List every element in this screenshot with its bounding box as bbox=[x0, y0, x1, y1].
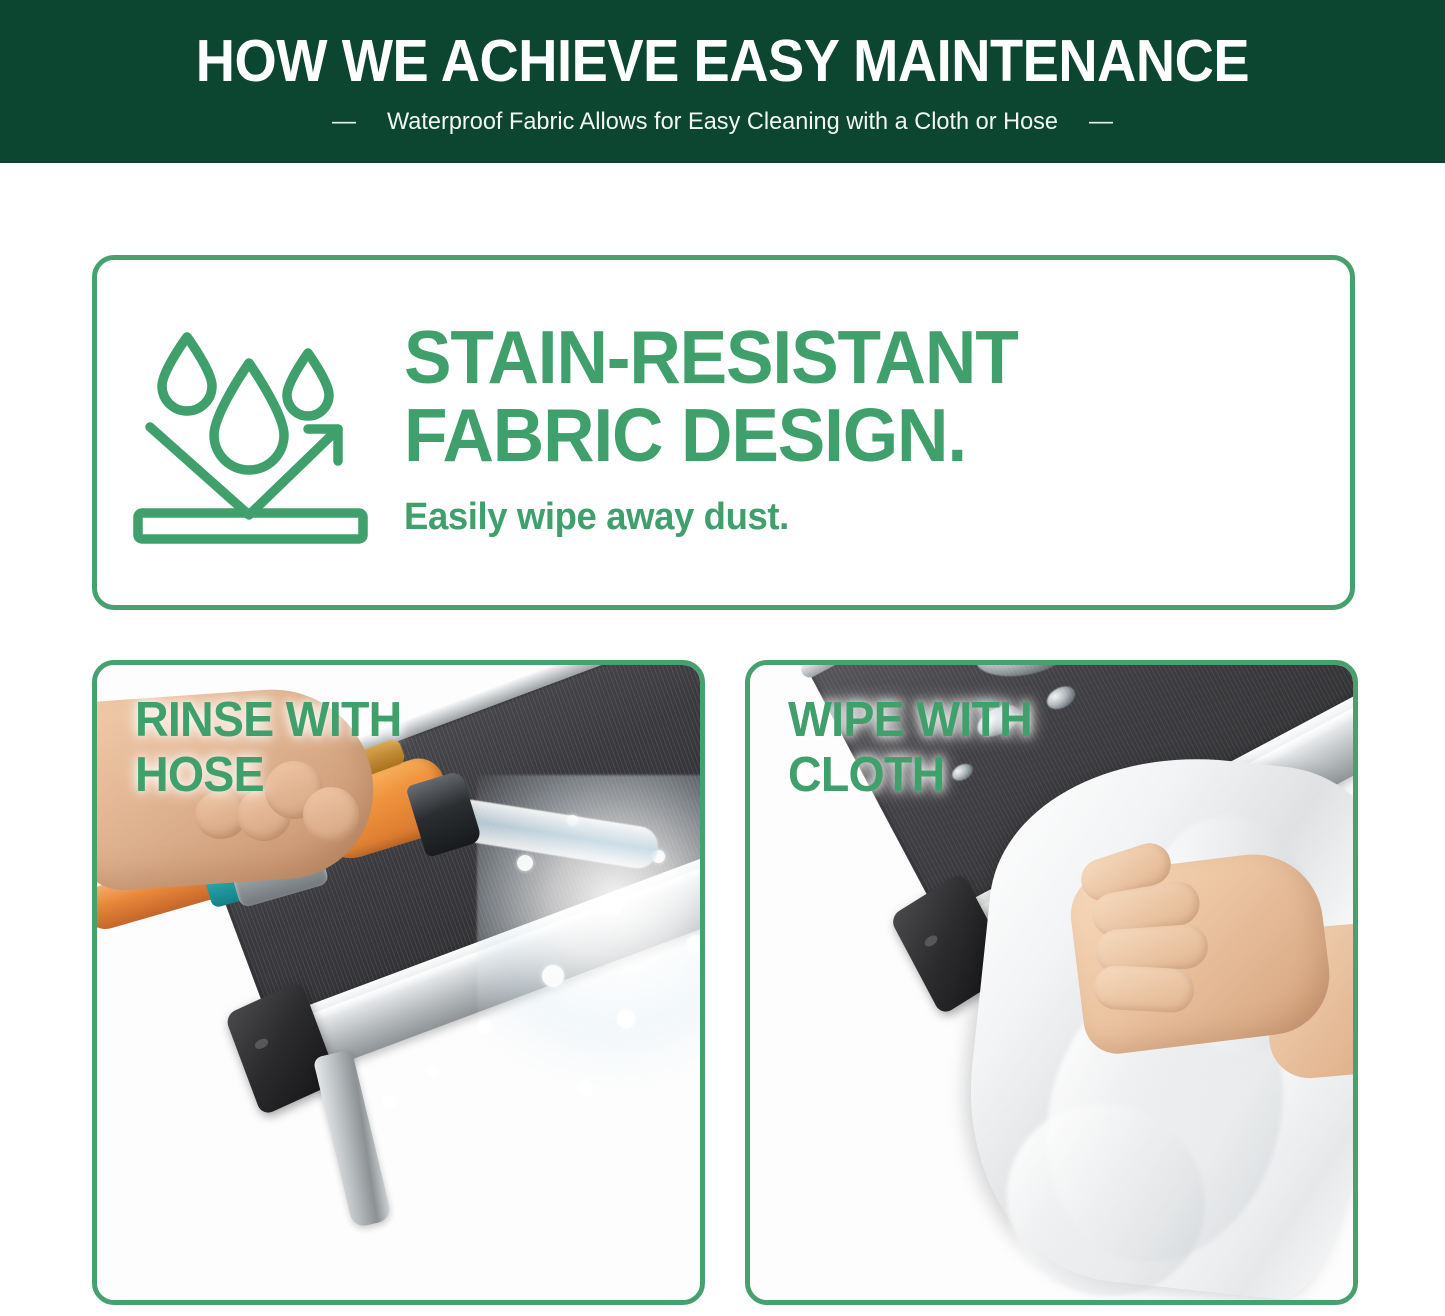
feature-heading-line-2: FABRIC DESIGN. bbox=[404, 396, 1303, 474]
water-droplet bbox=[602, 895, 622, 915]
photo-card-rinse-with-hose: RINSE WITH HOSE bbox=[92, 660, 705, 1305]
droplet-icon bbox=[162, 337, 212, 411]
page-subtitle: Waterproof Fabric Allows for Easy Cleani… bbox=[387, 108, 1058, 136]
content-stage: STAIN-RESISTANT FABRIC DESIGN. Easily wi… bbox=[0, 163, 1445, 1316]
water-droplet bbox=[577, 1080, 593, 1096]
water-repellent-fabric-icon bbox=[132, 323, 382, 551]
feature-text-block: STAIN-RESISTANT FABRIC DESIGN. Easily wi… bbox=[402, 318, 1350, 547]
finger bbox=[1093, 964, 1195, 1013]
header-banner: HOW WE ACHIEVE EASY MAINTENANCE — Waterp… bbox=[0, 0, 1445, 163]
water-droplet bbox=[517, 855, 533, 871]
photo-rinse-with-hose bbox=[97, 665, 700, 1300]
water-droplet bbox=[382, 1095, 396, 1109]
page-title: HOW WE ACHIEVE EASY MAINTENANCE bbox=[196, 31, 1249, 91]
droplet-icon bbox=[287, 353, 329, 416]
dash-right-icon: — bbox=[1089, 110, 1113, 134]
knuckle bbox=[303, 787, 359, 843]
water-droplet bbox=[687, 935, 700, 952]
feature-card-stain-resistant: STAIN-RESISTANT FABRIC DESIGN. Easily wi… bbox=[92, 255, 1355, 610]
header-subtitle-row: — Waterproof Fabric Allows for Easy Clea… bbox=[332, 108, 1113, 136]
feature-subheading: Easily wipe away dust. bbox=[404, 496, 1312, 539]
fabric-surface-bar bbox=[138, 513, 363, 539]
water-droplet bbox=[617, 1010, 635, 1028]
water-droplet bbox=[477, 1020, 492, 1035]
photo-wipe-with-cloth bbox=[750, 665, 1353, 1300]
photo-card-wipe-with-cloth: WIPE WITH CLOTH bbox=[745, 660, 1358, 1305]
dash-left-icon: — bbox=[332, 110, 356, 134]
water-droplet bbox=[427, 1065, 439, 1077]
water-droplet bbox=[542, 965, 564, 987]
feature-icon-container bbox=[97, 315, 402, 551]
droplet-icon bbox=[214, 363, 284, 470]
cot-leg-left bbox=[313, 1049, 393, 1229]
feature-heading-line-1: STAIN-RESISTANT bbox=[404, 318, 1303, 396]
